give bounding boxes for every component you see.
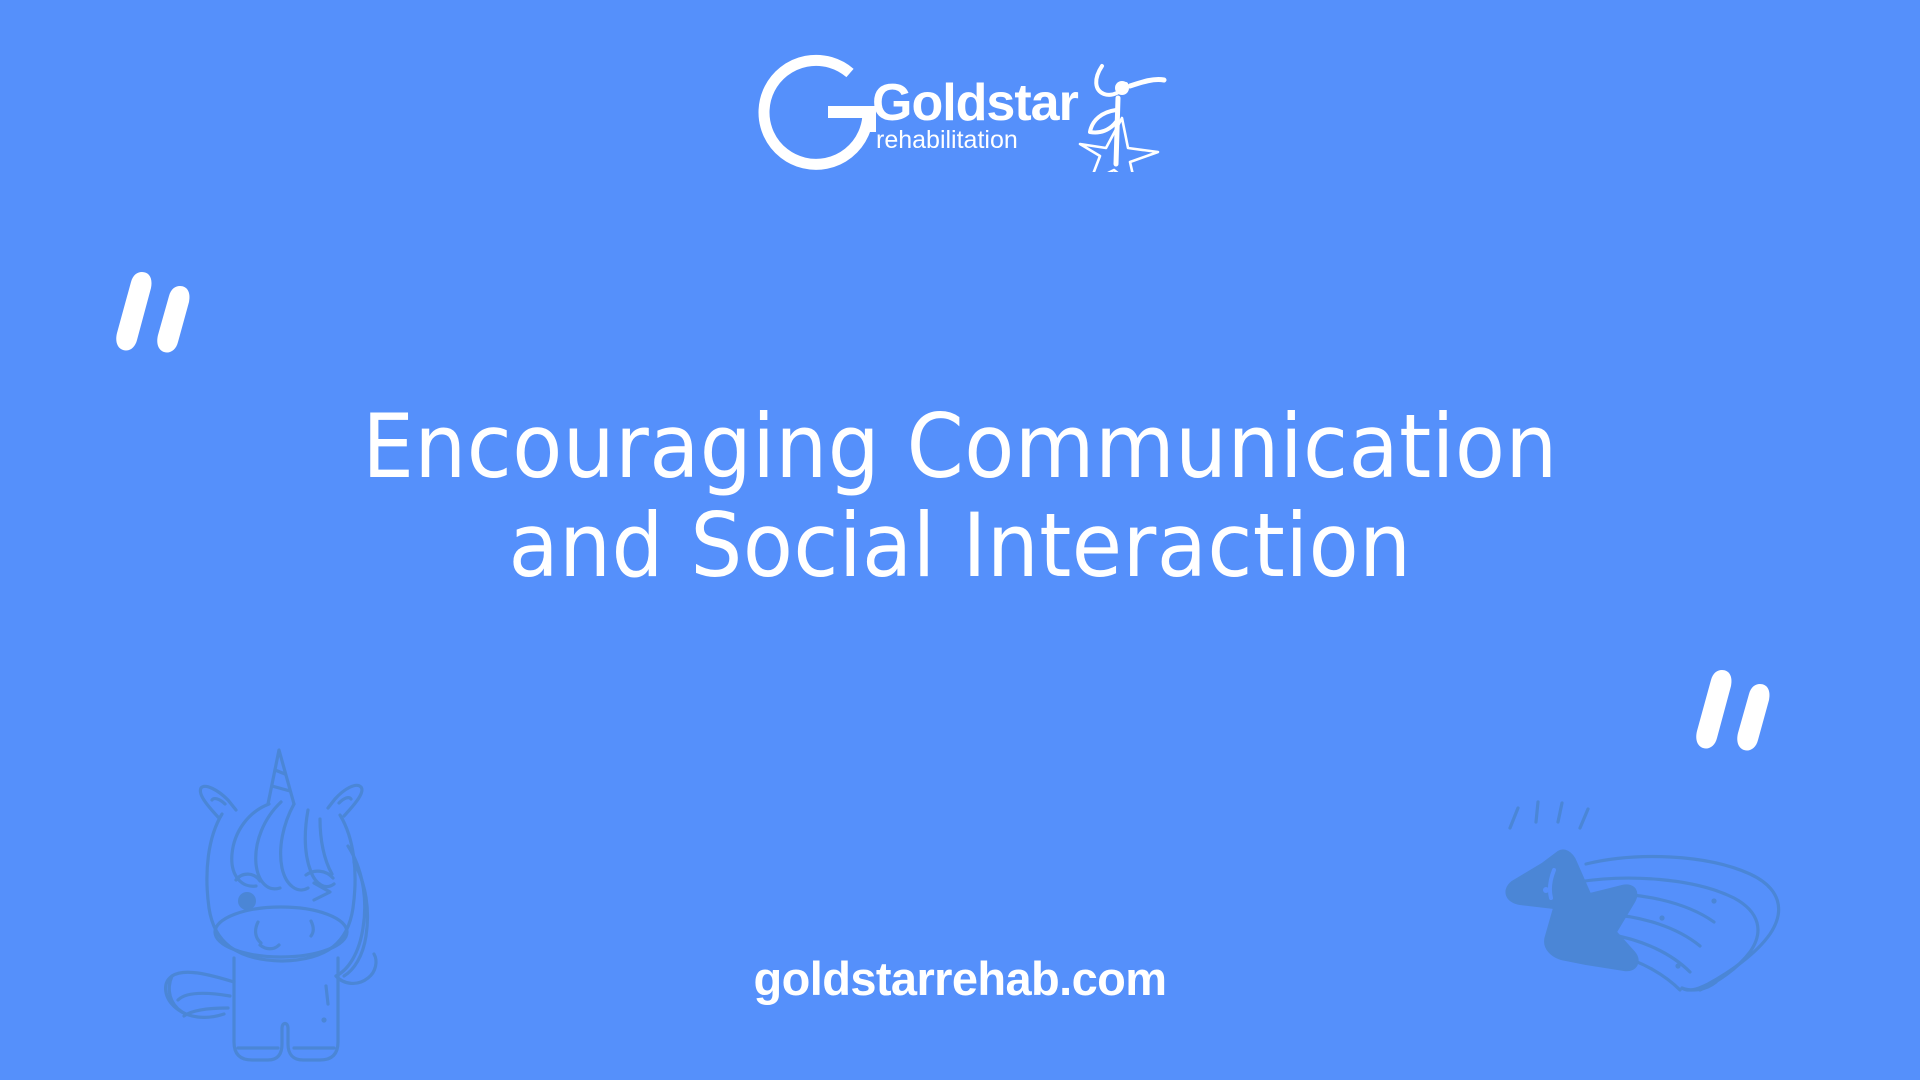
unicorn-illustration [148,742,416,1072]
logo-tagline: rehabilitation [876,126,1018,154]
page-title-line-1: Encouraging Communication [67,398,1853,497]
opening-quote-mark [112,268,204,354]
logo-wordmark: Goldstar [872,74,1079,132]
page-title: Encouraging Communication and Social Int… [0,398,1920,595]
page-title-line-2: and Social Interaction [67,497,1853,596]
goldstar-rehabilitation-logo: Goldstar rehabilitation [750,52,1170,172]
site-url[interactable]: goldstarrehab.com [0,951,1920,1006]
quote-card-slide: Goldstar rehabilitation Encouraging Comm… [0,0,1920,1080]
logo-g-mark [764,60,876,164]
star-person-icon [1080,66,1164,172]
closing-quote-mark [1692,666,1784,752]
